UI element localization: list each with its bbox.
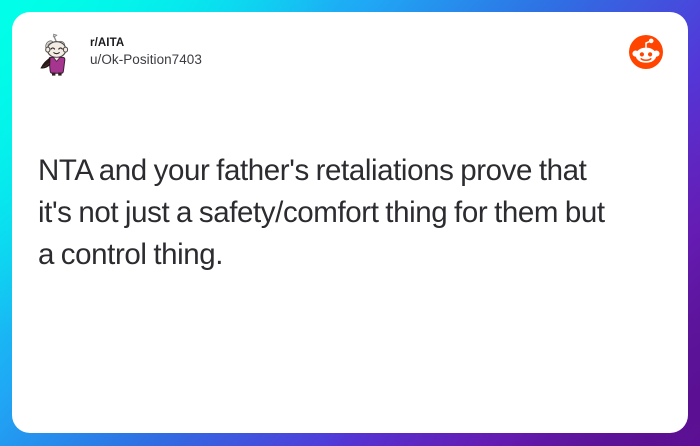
- snoo-avatar-icon: [38, 32, 78, 76]
- reddit-logo-icon: [628, 34, 664, 70]
- avatar[interactable]: [38, 34, 78, 76]
- post-author-block: r/AITA u/Ok-Position7403: [90, 34, 202, 69]
- subreddit-name[interactable]: r/AITA: [90, 36, 202, 51]
- username[interactable]: u/Ok-Position7403: [90, 51, 202, 69]
- post-text: NTA and your father's retaliations prove…: [38, 150, 618, 276]
- gradient-background: r/AITA u/Ok-Position7403: [0, 0, 700, 446]
- reddit-post-card: r/AITA u/Ok-Position7403: [12, 12, 688, 433]
- post-body: NTA and your father's retaliations prove…: [38, 80, 662, 407]
- post-header: r/AITA u/Ok-Position7403: [38, 34, 662, 80]
